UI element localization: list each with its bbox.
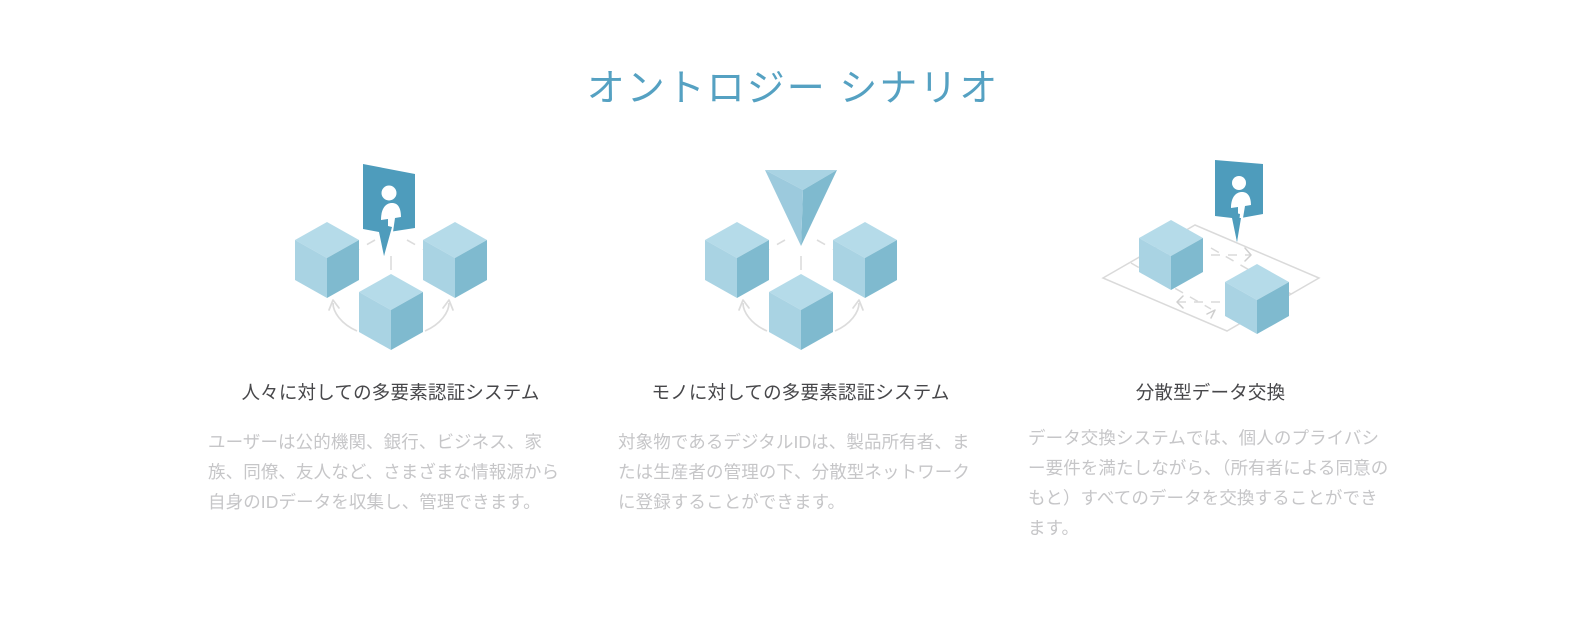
cube-left	[705, 222, 769, 298]
scenario-card-2: モノに対しての多要素認証システム 対象物であるデジタルIDは、製品所有者、または…	[608, 160, 993, 517]
card-heading: 分散型データ交換	[1031, 378, 1391, 409]
illustration-people-multifactor-auth	[271, 160, 511, 360]
illustration-decentralized-data-exchange	[1091, 160, 1331, 360]
card-heading: 人々に対しての多要素認証システム	[241, 378, 541, 409]
scenario-card-1: 人々に対しての多要素認証システム ユーザーは公的機関、銀行、ビジネス、家族、同僚…	[198, 160, 583, 517]
illustration-things-multifactor-auth	[681, 160, 921, 360]
cube-bottom	[769, 274, 833, 350]
card-body: 対象物であるデジタルIDは、製品所有者、または生産者の管理の下、分散型ネットワー…	[618, 427, 983, 517]
page-title: オントロジー シナリオ	[0, 67, 1586, 113]
cube-front	[1225, 264, 1289, 334]
card-heading: モノに対しての多要素認証システム	[651, 378, 951, 409]
cube-left	[295, 222, 359, 298]
card-body: ユーザーは公的機関、銀行、ビジネス、家族、同僚、友人など、さまざまな情報源から自…	[208, 427, 573, 517]
cube-bottom	[359, 274, 423, 350]
scenario-card-3: 分散型データ交換 データ交換システムでは、個人のプライバシー要件を満たしながら、…	[1018, 160, 1403, 543]
card-body: データ交換システムでは、個人のプライバシー要件を満たしながら、（所有者による同意…	[1028, 423, 1393, 543]
cube-back	[1139, 220, 1203, 290]
person-badge-icon	[1215, 160, 1263, 242]
cube-right	[423, 222, 487, 298]
cube-right	[833, 222, 897, 298]
scenario-columns: 人々に対しての多要素認証システム ユーザーは公的機関、銀行、ビジネス、家族、同僚…	[0, 160, 1586, 543]
inverted-pyramid-icon	[765, 170, 837, 246]
